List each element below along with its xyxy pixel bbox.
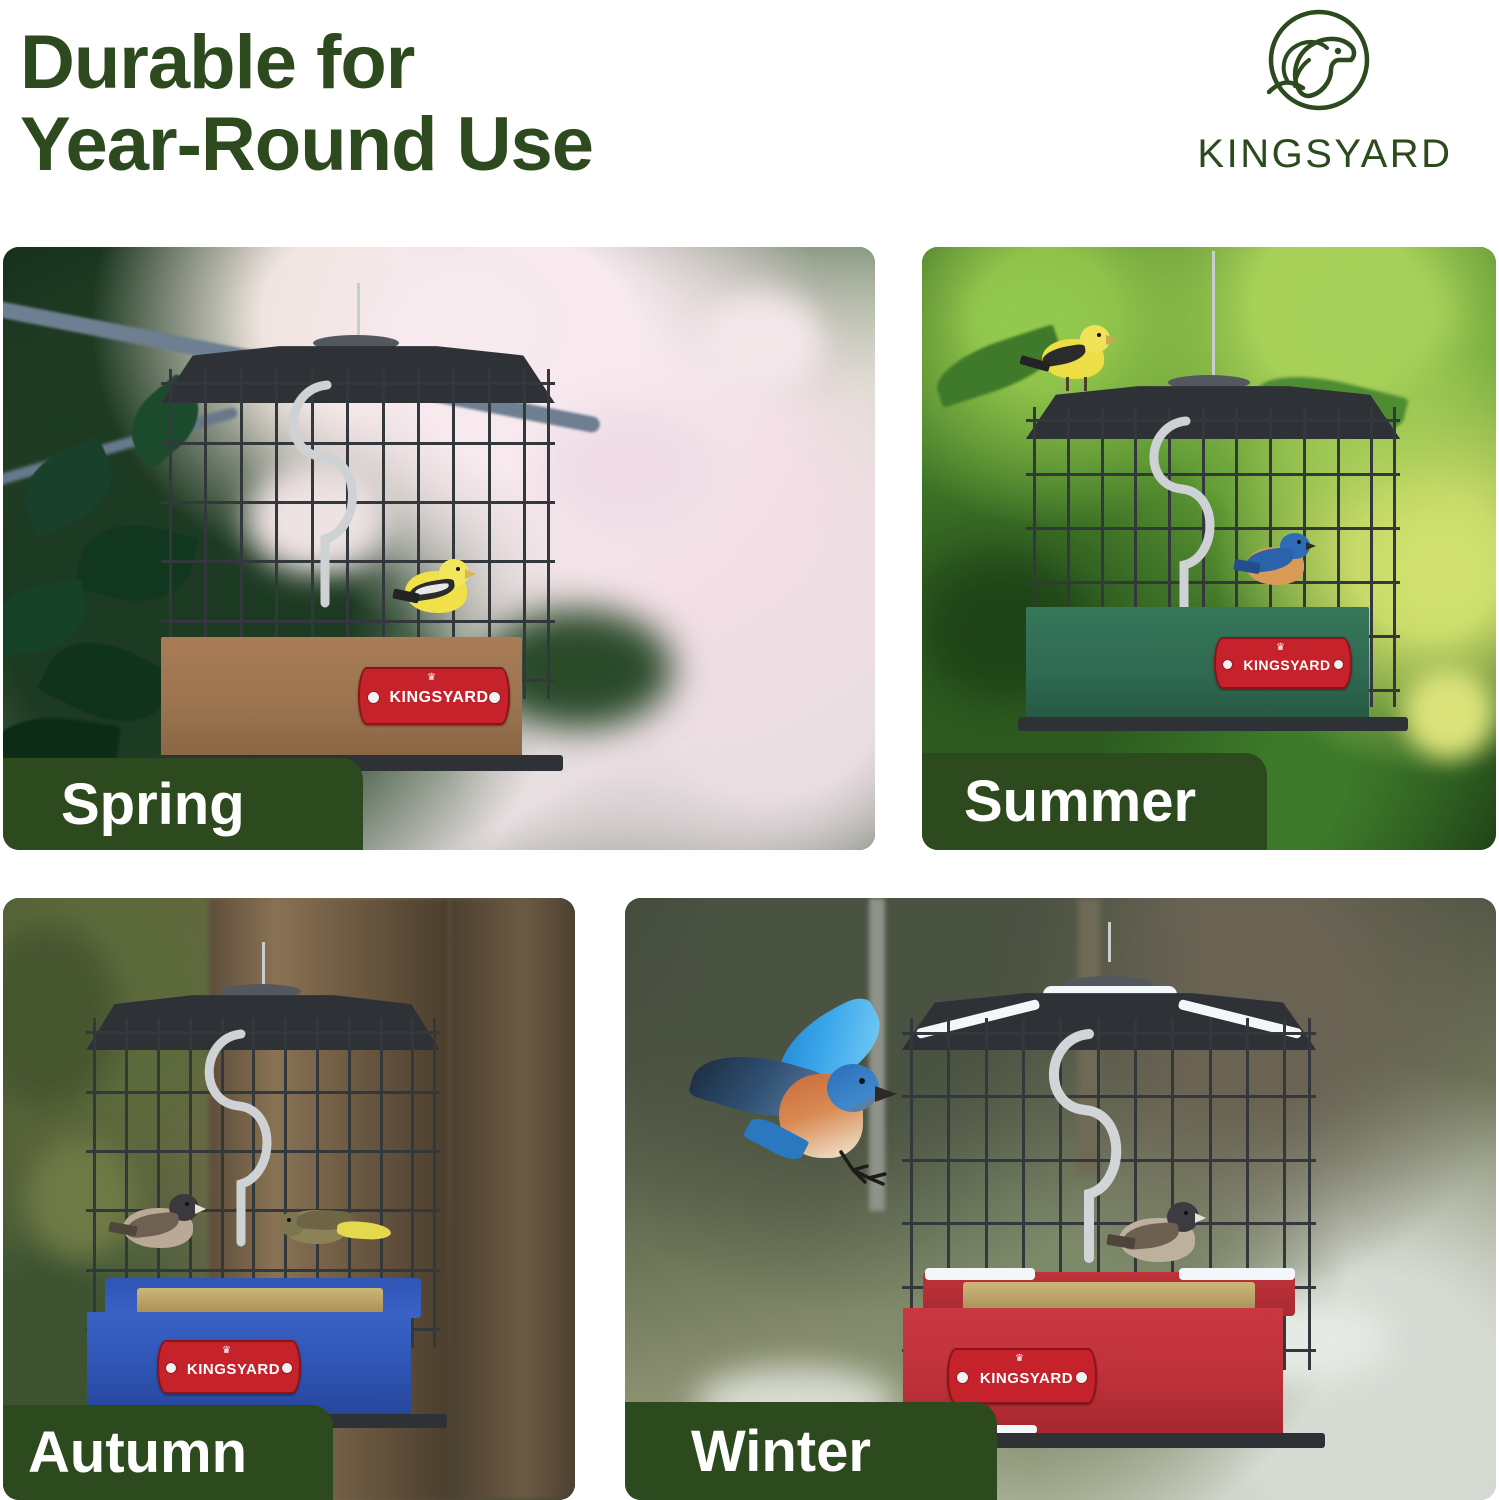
panel-autumn: ♛ KINGSYARD Autumn — [3, 898, 575, 1500]
crown-icon: ♛ — [427, 673, 436, 683]
bird-goldfinch — [401, 555, 497, 621]
product-nameplate: ♛ KINGSYARD — [358, 667, 510, 725]
screw-dot — [281, 1362, 293, 1374]
tray-rim-snow — [925, 1268, 1035, 1280]
screw-dot — [1075, 1371, 1088, 1384]
bird-goldfinch — [275, 1198, 395, 1258]
bird-junco — [1115, 1200, 1231, 1270]
season-label: Summer — [964, 768, 1196, 835]
hanging-wire — [1108, 922, 1111, 962]
crown-icon: ♛ — [1276, 643, 1285, 653]
product-nameplate: ♛ KINGSYARD — [947, 1348, 1097, 1404]
headline-line-1: Durable for — [20, 22, 860, 104]
tree-trunk-secondary — [449, 898, 575, 1500]
bird-in-circle-logo-icon — [1243, 4, 1383, 132]
panel-spring: ♛ KINGSYARD Spring — [3, 247, 875, 850]
s-hook — [265, 379, 385, 609]
nameplate-text: KINGSYARD — [187, 1361, 280, 1378]
bird-seed — [137, 1288, 383, 1314]
bird-feeder-spring: ♛ KINGSYARD — [153, 283, 563, 773]
brand-wordmark: KINGSYARD — [1175, 132, 1475, 177]
bird-feeder-autumn: ♛ KINGSYARD — [79, 970, 447, 1430]
season-badge-spring: Spring — [3, 758, 363, 850]
page-headline: Durable for Year-Round Use — [20, 22, 860, 186]
screw-dot — [1333, 659, 1344, 670]
brand-logo: KINGSYARD — [1175, 4, 1475, 204]
tray-base-rim — [1018, 717, 1408, 731]
nameplate-text: KINGSYARD — [980, 1370, 1073, 1387]
foliage-bokeh — [1404, 669, 1494, 759]
hanging-wire — [262, 942, 265, 986]
panel-winter: ♛ KINGSYARD Winter — [625, 898, 1496, 1500]
bird-junco — [119, 1192, 229, 1254]
bird-feet — [835, 1148, 897, 1190]
season-label: Autumn — [28, 1419, 247, 1486]
hanging-wire — [1212, 251, 1215, 379]
panel-summer: ♛ KINGSYARD Summer — [922, 247, 1496, 850]
nameplate-text: KINGSYARD — [389, 689, 488, 707]
bird-head — [827, 1064, 879, 1112]
season-badge-autumn: Autumn — [3, 1405, 333, 1500]
screw-dot — [165, 1362, 177, 1374]
bird-bluebird — [1240, 531, 1336, 593]
screw-dot — [956, 1371, 969, 1384]
screw-dot — [1222, 659, 1233, 670]
bird-goldfinch-on-roof — [1036, 321, 1136, 391]
bird-feeder-winter: ♛ KINGSYARD — [893, 956, 1325, 1448]
season-label: Winter — [691, 1418, 871, 1485]
hanging-wire — [357, 283, 360, 343]
product-nameplate: ♛ KINGSYARD — [1214, 637, 1352, 689]
s-hook — [1126, 415, 1242, 625]
nameplate-text: KINGSYARD — [1243, 657, 1330, 673]
screw-dot — [367, 691, 380, 704]
headline-line-2: Year-Round Use — [20, 104, 860, 186]
blossom-blob — [701, 295, 821, 390]
bird-feeder-summer: ♛ KINGSYARD — [1018, 265, 1408, 735]
tray-rim-snow — [1179, 1268, 1295, 1280]
header: Durable for Year-Round Use KINGSYARD — [0, 0, 1499, 247]
crown-icon: ♛ — [222, 1346, 231, 1356]
screw-dot — [488, 691, 501, 704]
crown-icon: ♛ — [1015, 1354, 1024, 1364]
season-label: Spring — [61, 771, 245, 838]
season-badge-winter: Winter — [625, 1402, 997, 1500]
season-badge-summer: Summer — [922, 753, 1267, 850]
product-nameplate: ♛ KINGSYARD — [157, 1340, 301, 1394]
